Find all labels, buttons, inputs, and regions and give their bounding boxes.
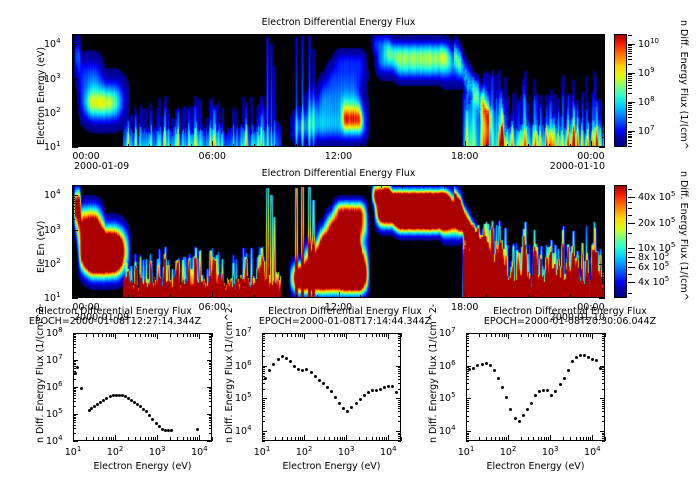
spectrum-data-point bbox=[522, 414, 525, 417]
spectrum-data-point bbox=[575, 356, 578, 359]
y-tick-label: 103 bbox=[44, 72, 61, 85]
spectrum-x-tick-label: 103 bbox=[538, 445, 562, 458]
colorbar-tick-label: 1010 bbox=[638, 37, 659, 50]
y-tick-label: 102 bbox=[44, 106, 61, 119]
spectrum-y-axis-label: n Diff. Energy Flux (1/(cm^2- bbox=[35, 304, 46, 443]
top-panel-colorbar bbox=[614, 34, 627, 147]
spectrum-y-tick-label: 107 bbox=[235, 326, 252, 339]
spectrum-data-point bbox=[318, 379, 321, 382]
spectrum-y-axis-label: n Diff. Energy Flux (1/(cm^2- bbox=[224, 304, 235, 443]
spectrum-data-point bbox=[542, 389, 545, 392]
spectrum-x-tick-label: 102 bbox=[292, 445, 316, 458]
spectrum-plot-area bbox=[73, 333, 212, 441]
colorbar-tick-label: 108 bbox=[638, 95, 655, 108]
spectrum-data-point bbox=[285, 357, 288, 360]
spectrum-x-axis-label: Electron Energy (eV) bbox=[242, 461, 421, 472]
spectrum-data-point bbox=[281, 355, 284, 358]
spectrum-data-point bbox=[563, 377, 566, 380]
spectrum-panel-epoch: EPOCH=2000-01-08T17:14:44.344Z bbox=[230, 316, 460, 327]
mid-colorbar-label: n Diff. Energy Flux (1/(cm^ bbox=[678, 171, 689, 301]
spectrum-data-point bbox=[383, 386, 386, 389]
spectrum-y-tick-label: 104 bbox=[235, 424, 252, 437]
spectrum-data-point bbox=[293, 365, 296, 368]
y-tick-label: 101 bbox=[44, 291, 61, 304]
spectrum-x-tick-label: 102 bbox=[103, 445, 127, 458]
spectrum-data-point bbox=[481, 363, 484, 366]
y-tick-label: 102 bbox=[44, 257, 61, 270]
spectrum-x-tick-label: 101 bbox=[454, 445, 478, 458]
spectrum-x-tick-label: 104 bbox=[580, 445, 604, 458]
spectrum-y-tick-label: 107 bbox=[439, 326, 456, 339]
spectrum-data-point bbox=[76, 366, 79, 369]
spectrum-data-point bbox=[334, 396, 337, 399]
spectrum-y-tick-label: 105 bbox=[235, 391, 252, 404]
spectrum-data-point bbox=[80, 387, 83, 390]
spectrum-data-point bbox=[505, 396, 508, 399]
y-tick-label: 104 bbox=[44, 37, 61, 50]
spectrum-data-point bbox=[155, 422, 158, 425]
spectrum-data-point bbox=[277, 358, 280, 361]
top-panel-title: Electron Differential Energy Flux bbox=[72, 17, 605, 28]
spectrum-x-tick-label: 101 bbox=[61, 445, 85, 458]
y-tick-label: 103 bbox=[44, 223, 61, 236]
y-tick-label: 101 bbox=[44, 140, 61, 153]
spectrum-data-point bbox=[367, 391, 370, 394]
spectrum-x-tick-label: 104 bbox=[187, 445, 211, 458]
spectrum-data-point bbox=[501, 386, 504, 389]
spectrum-y-axis-label: n Diff. Energy Flux (1/(cm^2- bbox=[428, 304, 439, 443]
spectrum-x-tick-label: 103 bbox=[145, 445, 169, 458]
spectrum-x-tick-label: 104 bbox=[376, 445, 400, 458]
spectrum-data-point bbox=[472, 367, 475, 370]
spectrum-data-point bbox=[170, 429, 173, 432]
spectrum-data-point bbox=[355, 402, 358, 405]
x-tick-label: 12:00 bbox=[323, 151, 355, 162]
spectrum-y-tick-label: 106 bbox=[46, 380, 63, 393]
spectrum-y-tick-label: 108 bbox=[46, 326, 63, 339]
spectrum-data-point bbox=[375, 389, 378, 392]
x-tick-label: 06:00 bbox=[196, 151, 228, 162]
colorbar-tick-label: 4x 105 bbox=[638, 275, 669, 288]
spectrum-y-tick-label: 105 bbox=[46, 407, 63, 420]
spectrum-data-point bbox=[158, 425, 161, 428]
spectrum-x-axis-label: Electron Energy (eV) bbox=[53, 461, 232, 472]
colorbar-tick-label: 109 bbox=[638, 66, 655, 79]
spectrum-data-point bbox=[514, 417, 517, 420]
spectrum-data-point bbox=[74, 372, 77, 375]
colorbar-tick-label: 107 bbox=[638, 124, 655, 137]
mid-panel-colorbar bbox=[614, 185, 627, 298]
spectrum-data-point bbox=[314, 375, 317, 378]
top-colorbar-label: n Diff. Energy Flux (1/(cm^ bbox=[678, 20, 689, 150]
spectrum-y-tick-label: 106 bbox=[439, 359, 456, 372]
colorbar-tick-label: 20x 105 bbox=[638, 216, 675, 229]
spectrum-x-tick-label: 101 bbox=[250, 445, 274, 458]
colorbar-tick-label: 40x 105 bbox=[638, 190, 675, 203]
top-panel-spectrogram bbox=[72, 34, 605, 147]
y-tick-label: 104 bbox=[44, 188, 61, 201]
spectrum-data-point bbox=[530, 402, 533, 405]
spectrum-data-point bbox=[326, 386, 329, 389]
spectrum-data-point bbox=[485, 362, 488, 365]
spectrum-y-tick-label: 104 bbox=[439, 424, 456, 437]
spectrum-x-axis-label: Electron Energy (eV) bbox=[446, 461, 625, 472]
spectrum-panel-epoch: EPOCH=2000-01-08T20:30:06.044Z bbox=[450, 316, 690, 327]
mid-panel-spectrogram bbox=[72, 185, 605, 298]
spectrum-y-tick-label: 106 bbox=[235, 359, 252, 372]
colorbar-tick-label: 10x 105 bbox=[638, 241, 675, 254]
spectrum-x-tick-label: 103 bbox=[334, 445, 358, 458]
spectrum-y-tick-label: 107 bbox=[46, 353, 63, 366]
mid-panel-title: Electron Differential Energy Flux bbox=[72, 168, 605, 179]
top-panel-ylabel: Electron Energy (eV) bbox=[36, 47, 47, 145]
spectrum-plot-area bbox=[466, 333, 605, 441]
x-tick-label: 18:00 bbox=[449, 151, 481, 162]
spectrum-data-point bbox=[379, 388, 382, 391]
spectrum-data-point bbox=[518, 420, 521, 423]
spectrum-y-tick-label: 105 bbox=[439, 391, 456, 404]
spectrum-x-tick-label: 102 bbox=[496, 445, 520, 458]
spectrum-data-point bbox=[591, 358, 594, 361]
